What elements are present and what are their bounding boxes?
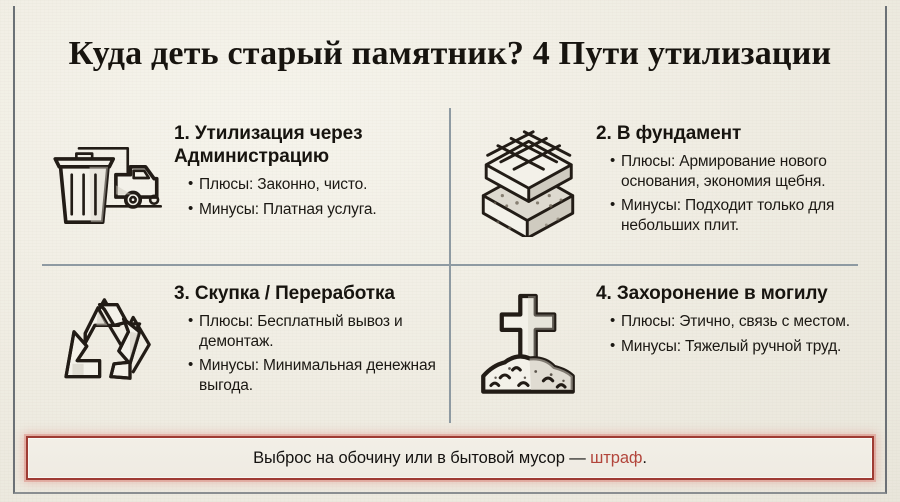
list-item: Минусы: Платная услуга.	[188, 200, 436, 220]
option-card-2: 2. В фундамент Плюсы: Армирование нового…	[450, 104, 872, 264]
list-item: Плюсы: Бесплатный вывоз и демонтаж.	[188, 312, 436, 351]
option-2-body: 2. В фундамент Плюсы: Армирование нового…	[596, 114, 858, 240]
warning-highlight: штраф	[590, 449, 642, 467]
option-4-body: 4. Захоронение в могилу Плюсы: Этично, с…	[596, 278, 858, 361]
option-3-body: 3. Скупка / Переработка Плюсы: Бесплатны…	[174, 278, 436, 400]
option-2-heading: 2. В фундамент	[596, 122, 858, 145]
trash-bin-and-garbage-truck-icon	[50, 114, 162, 242]
infographic-poster: Куда деть старый памятник? 4 Пути утилиз…	[0, 0, 900, 502]
option-card-4: 4. Захоронение в могилу Плюсы: Этично, с…	[450, 264, 872, 424]
warning-text-after: .	[642, 449, 646, 467]
option-2-points: Плюсы: Армирование нового основания, эко…	[596, 152, 858, 235]
option-4-points: Плюсы: Этично, связь с местом. Минусы: Т…	[596, 312, 858, 356]
list-item: Минусы: Минимальная денежная выгода.	[188, 356, 436, 395]
list-item: Плюсы: Армирование нового основания, эко…	[610, 152, 858, 191]
options-grid: 1. Утилизация через Администрацию Плюсы:…	[28, 104, 872, 424]
option-card-3: 3. Скупка / Переработка Плюсы: Бесплатны…	[28, 264, 450, 424]
option-3-heading: 3. Скупка / Переработка	[174, 282, 436, 305]
warning-banner: Выброс на обочину или в бытовой мусор — …	[26, 436, 874, 480]
option-1-heading: 1. Утилизация через Администрацию	[174, 122, 436, 168]
option-3-points: Плюсы: Бесплатный вывоз и демонтаж. Мину…	[174, 312, 436, 395]
page-title: Куда деть старый памятник? 4 Пути утилиз…	[0, 34, 900, 74]
option-1-body: 1. Утилизация через Администрацию Плюсы:…	[174, 114, 436, 224]
recycling-arrows-icon	[50, 278, 162, 408]
list-item: Плюсы: Законно, чисто.	[188, 175, 436, 195]
option-1-points: Плюсы: Законно, чисто. Минусы: Платная у…	[174, 175, 436, 219]
concrete-foundation-slab-with-rebar-icon	[472, 114, 584, 242]
list-item: Минусы: Подходит только для небольших пл…	[610, 196, 858, 235]
grave-mound-with-cross-icon	[472, 278, 584, 408]
warning-text: Выброс на обочину или в бытовой мусор — …	[253, 449, 647, 468]
option-4-heading: 4. Захоронение в могилу	[596, 282, 858, 305]
warning-text-before: Выброс на обочину или в бытовой мусор —	[253, 449, 590, 467]
list-item: Плюсы: Этично, связь с местом.	[610, 312, 858, 332]
option-card-1: 1. Утилизация через Администрацию Плюсы:…	[28, 104, 450, 264]
list-item: Минусы: Тяжелый ручной труд.	[610, 337, 858, 357]
